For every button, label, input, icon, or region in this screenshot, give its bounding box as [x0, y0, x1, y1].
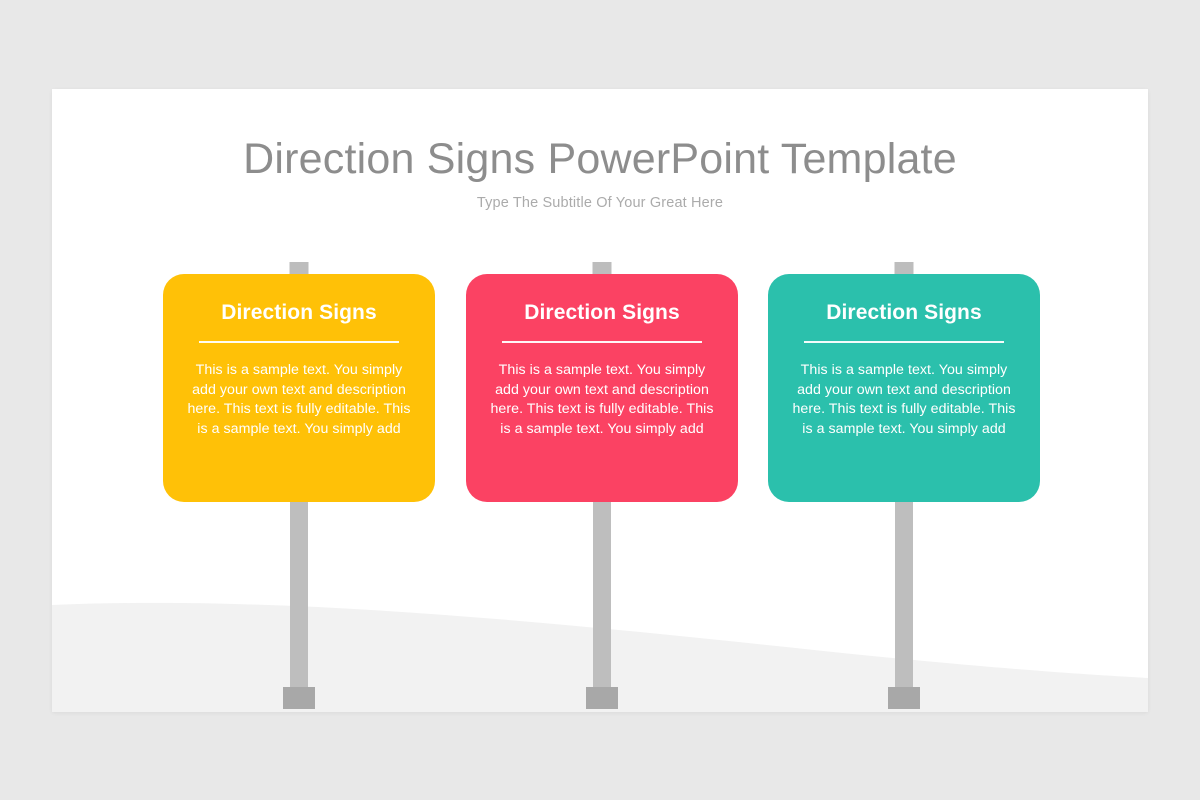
sign-board-pink[interactable]: Direction Signs This is a sample text. Y…: [466, 274, 738, 502]
page-subtitle: Type The Subtitle Of Your Great Here: [52, 195, 1148, 211]
sign-divider: [502, 341, 702, 343]
sign-divider: [199, 341, 399, 343]
slide-canvas: Direction Signs PowerPoint Template Type…: [52, 89, 1148, 712]
sign-title: Direction Signs: [790, 300, 1018, 325]
pole-base-icon: [586, 687, 618, 709]
sign-board-yellow[interactable]: Direction Signs This is a sample text. Y…: [163, 274, 435, 502]
sign-title: Direction Signs: [185, 300, 413, 325]
sign-body-text: This is a sample text. You simply add yo…: [488, 361, 716, 439]
sign-body-text: This is a sample text. You simply add yo…: [790, 361, 1018, 439]
sign-board-teal[interactable]: Direction Signs This is a sample text. Y…: [768, 274, 1040, 502]
sign-body-text: This is a sample text. You simply add yo…: [185, 361, 413, 439]
sign-divider: [804, 341, 1004, 343]
pole-base-icon: [888, 687, 920, 709]
sign-title: Direction Signs: [488, 300, 716, 325]
pole-base-icon: [283, 687, 315, 709]
slide-header: Direction Signs PowerPoint Template Type…: [52, 89, 1148, 211]
page-title: Direction Signs PowerPoint Template: [52, 135, 1148, 184]
